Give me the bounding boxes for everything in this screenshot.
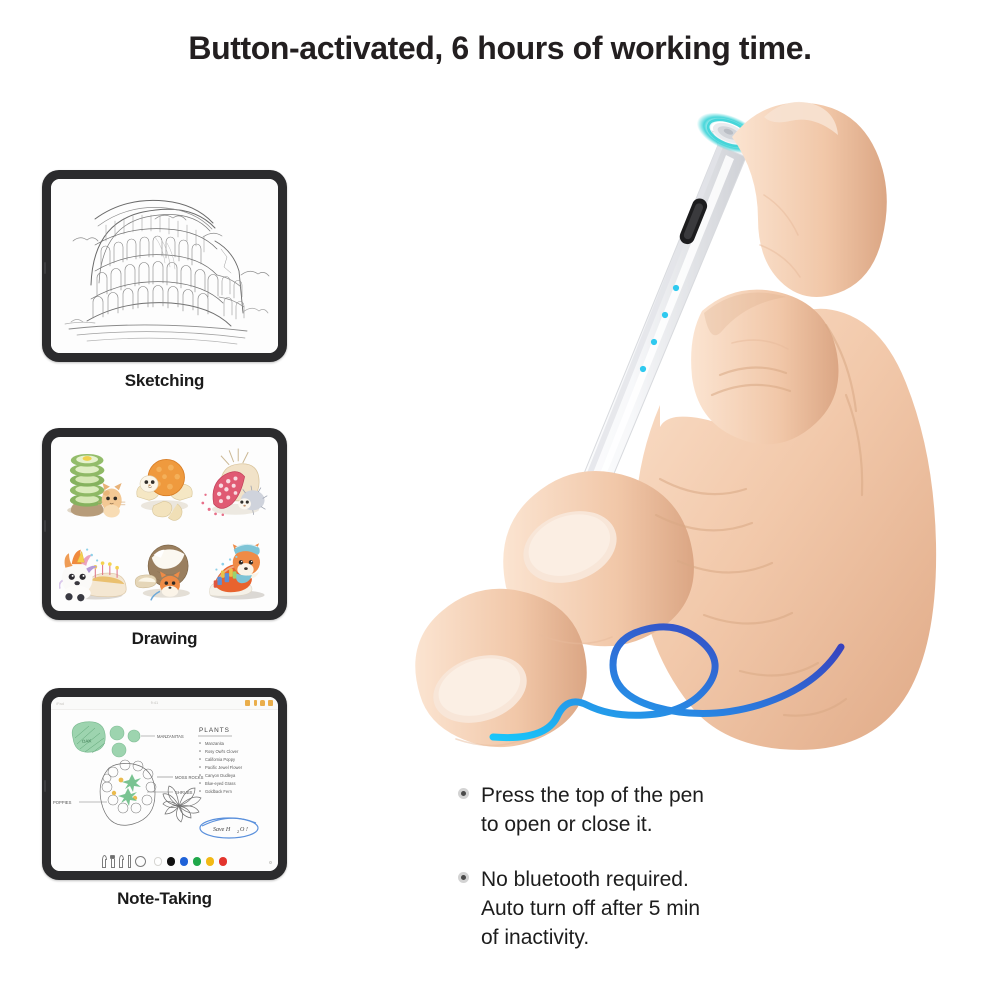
label-shrubs: SHRUBS (175, 790, 193, 795)
feature-card-note-taking: iPad 9:41 (42, 688, 287, 909)
tablet-screen (51, 179, 278, 353)
bullet-icon (458, 872, 469, 883)
upload-icon[interactable] (260, 700, 265, 706)
tablet-frame (42, 170, 287, 362)
illustration-unicorn-birthday-cake (59, 525, 128, 605)
illustration-coconut-with-fox (130, 525, 199, 605)
colosseum-sketch-icon (51, 179, 278, 353)
more-options-icon[interactable] (269, 861, 272, 864)
tablet-frame: iPad 9:41 (42, 688, 287, 880)
illustration-kiwi-stack-with-kitten (59, 443, 128, 523)
feature-list: Press the top of the pen to open or clos… (458, 782, 878, 953)
note-tool-bar[interactable] (51, 852, 278, 871)
ruler-tool-icon[interactable] (127, 855, 131, 868)
card-label: Note-Taking (42, 889, 287, 909)
feature-text: Press the top of the pen to open or clos… (481, 782, 704, 840)
note-canvas[interactable]: OAK MANZANITAS (51, 710, 278, 852)
swatch-blue[interactable] (180, 857, 189, 866)
plant-item: Canyon Dudleya (205, 773, 236, 778)
swatch-red[interactable] (219, 857, 228, 866)
pen-icon[interactable] (254, 700, 257, 706)
illustration-orange-turtle-with-bread (130, 443, 199, 523)
plant-item: Pacific Jewel Flower (205, 765, 243, 770)
pen-tool-icon[interactable] (102, 855, 107, 868)
plants-list-title: PLANTS (199, 727, 230, 734)
lasso-tool-icon[interactable] (135, 856, 146, 867)
swatch-black[interactable] (167, 857, 176, 866)
swatch-green[interactable] (193, 857, 202, 866)
page-title: Button-activated, 6 hours of working tim… (0, 30, 1000, 67)
label-manzanitas: MANZANITAS (157, 734, 184, 739)
card-label: Sketching (42, 371, 287, 391)
card-label: Drawing (42, 629, 287, 649)
status-left: iPad (56, 701, 64, 706)
feature-item: No bluetooth required. Auto turn off aft… (458, 866, 878, 953)
product-photo-hand-holding-stylus (360, 75, 1000, 775)
tablet-screen (51, 437, 278, 611)
promo-stage: Button-activated, 6 hours of working tim… (0, 0, 1000, 1000)
save-water-annotation: Save H (213, 827, 231, 833)
swatch-white[interactable] (154, 857, 163, 866)
plant-item: Manzanita (205, 741, 225, 746)
status-time: 9:41 (64, 701, 245, 705)
feature-card-sketching: Sketching (42, 170, 287, 391)
bullet-icon (458, 788, 469, 799)
tablet-frame (42, 428, 287, 620)
color-swatches[interactable] (154, 857, 228, 866)
label-poppies: POPPIES (53, 800, 72, 805)
compose-icon[interactable] (268, 700, 273, 706)
share-icon[interactable] (245, 700, 250, 706)
right-hand (415, 102, 936, 750)
plant-item: Goldback Fern (205, 789, 233, 794)
feature-card-drawing: Drawing (42, 428, 287, 649)
hand-with-stylus-illustration (360, 75, 1000, 775)
illustration-grid (59, 443, 270, 605)
svg-text:2: 2 (237, 829, 239, 834)
pencil-tool-icon[interactable] (119, 855, 124, 868)
plant-item: California Poppy (205, 757, 236, 762)
illustration-pomegranate-with-hedgehog (201, 443, 270, 523)
illustration-fox-in-festival-costume (201, 525, 270, 605)
svg-text:O !: O ! (240, 827, 248, 833)
label-oak: OAK (82, 738, 92, 744)
marker-tool-icon[interactable] (110, 855, 115, 868)
label-moss-rocks: MOSS ROCKS (175, 775, 204, 780)
garden-plan-sketch-icon: OAK MANZANITAS (51, 710, 278, 852)
feature-item: Press the top of the pen to open or clos… (458, 782, 878, 840)
swatch-yellow[interactable] (206, 857, 215, 866)
note-status-bar: iPad 9:41 (51, 697, 278, 710)
note-toolbar-icons[interactable] (245, 700, 273, 706)
tablet-screen: iPad 9:41 (51, 697, 278, 871)
plant-item: Blue-eyed Grass (205, 781, 236, 786)
plant-item: Rosy Owl's Clover (205, 749, 239, 754)
drawing-tools[interactable] (102, 855, 146, 868)
feature-text: No bluetooth required. Auto turn off aft… (481, 866, 700, 953)
